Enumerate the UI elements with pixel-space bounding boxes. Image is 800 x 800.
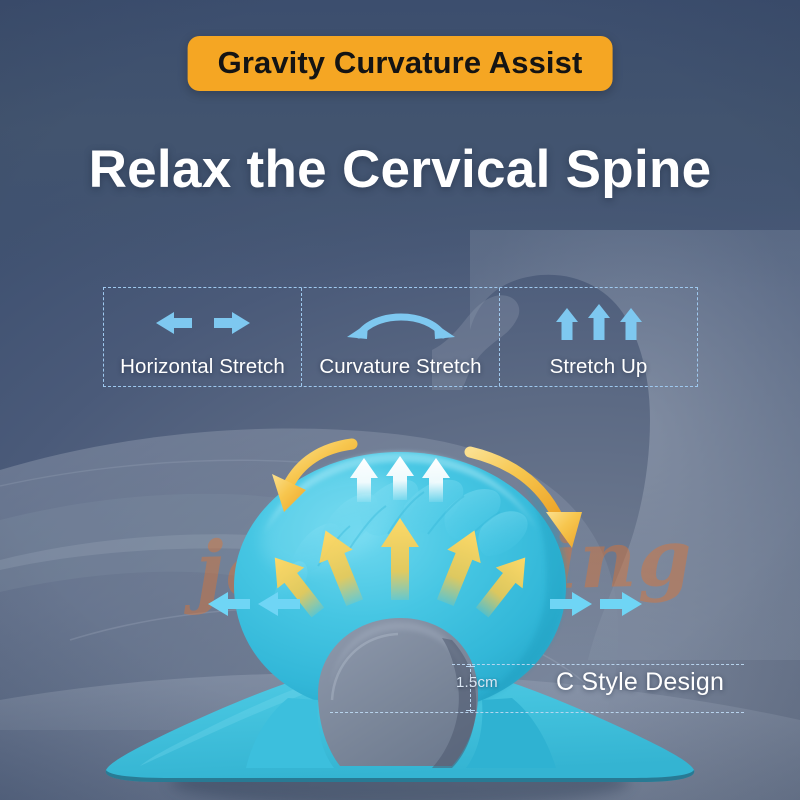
measure-line-top [452, 664, 744, 665]
measure-tick-top [466, 666, 475, 667]
product-infographic: Gravity Curvature Assist Relax the Cervi… [0, 0, 800, 800]
c-style-design-label: C Style Design [556, 670, 724, 695]
measure-line-bottom [330, 712, 744, 713]
white-up-arrows [350, 456, 450, 502]
measure-tick-bottom [466, 710, 475, 711]
measurement-label: 1.5cm [456, 674, 498, 691]
